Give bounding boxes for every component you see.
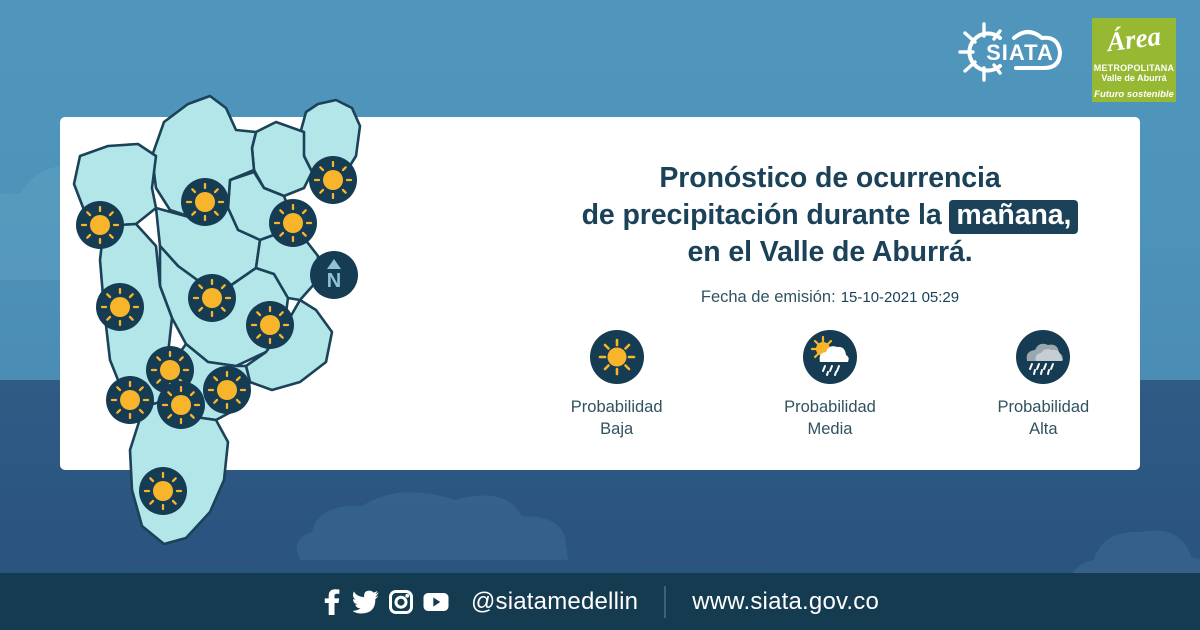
map-marker-sun[interactable] xyxy=(76,201,124,249)
footer-bar: @siatamedellin www.siata.gov.co xyxy=(0,573,1200,630)
ama-line2: Valle de Aburrá xyxy=(1101,73,1166,83)
map-markers-layer: N xyxy=(60,60,410,580)
legend-label-alta: Probabilidad Alta xyxy=(953,396,1133,441)
map-marker-sun[interactable] xyxy=(246,301,294,349)
logo-group: SIATA Área METROPOLITANA Valle de Aburrá… xyxy=(954,18,1176,102)
emission-date-value: 15-10-2021 05:29 xyxy=(841,289,959,306)
sun-cloud-rain-icon xyxy=(803,330,857,384)
emission-date: Fecha de emisión:15-10-2021 05:29 xyxy=(510,288,1150,307)
infographic-stage: SIATA Área METROPOLITANA Valle de Aburrá… xyxy=(0,0,1200,630)
ama-script-text: Área xyxy=(1106,23,1163,56)
social-icons xyxy=(321,589,449,615)
forecast-text-block: Pronóstico de ocurrencia de precipitació… xyxy=(510,160,1150,307)
facebook-icon[interactable] xyxy=(321,589,343,615)
title-line-2: de precipitación durante la mañana, xyxy=(510,197,1150,234)
twitter-icon[interactable] xyxy=(353,590,379,614)
ama-tagline: Futuro sostenible xyxy=(1092,89,1176,100)
instagram-icon[interactable] xyxy=(389,590,413,614)
probability-legend: Probabilidad Baja xyxy=(510,330,1150,441)
compass-rose: N xyxy=(310,251,358,299)
map-marker-sun[interactable] xyxy=(309,156,357,204)
map-valle-de-aburra: N xyxy=(60,60,410,580)
ama-line1: METROPOLITANA xyxy=(1094,63,1174,73)
legend-label-media: Probabilidad Media xyxy=(740,396,920,441)
map-marker-sun[interactable] xyxy=(269,199,317,247)
legend-label-line2: Baja xyxy=(527,418,707,440)
title-highlight-manana: mañana, xyxy=(949,200,1078,234)
title-line-1: Pronóstico de ocurrencia xyxy=(510,160,1150,197)
siata-logo-text: SIATA xyxy=(984,40,1056,66)
legend-item-baja: Probabilidad Baja xyxy=(527,330,707,441)
map-marker-sun[interactable] xyxy=(96,283,144,331)
legend-item-alta: Probabilidad Alta xyxy=(953,330,1133,441)
legend-label-line1: Probabilidad xyxy=(740,396,920,418)
compass-label: N xyxy=(327,270,341,292)
cloud-rain-icon xyxy=(1016,330,1070,384)
legend-label-line2: Alta xyxy=(953,418,1133,440)
footer-divider xyxy=(664,586,666,618)
map-marker-sun[interactable] xyxy=(139,467,187,515)
page-title: Pronóstico de ocurrencia de precipitació… xyxy=(510,160,1150,271)
sun-icon xyxy=(590,330,644,384)
map-marker-sun[interactable] xyxy=(106,376,154,424)
map-marker-sun[interactable] xyxy=(181,178,229,226)
website-url[interactable]: www.siata.gov.co xyxy=(692,588,879,616)
title-line-2-prefix: de precipitación durante la xyxy=(582,199,950,231)
area-metropolitana-logo: Área METROPOLITANA Valle de Aburrá Futur… xyxy=(1092,18,1176,102)
legend-label-line1: Probabilidad xyxy=(527,396,707,418)
legend-label-baja: Probabilidad Baja xyxy=(527,396,707,441)
map-marker-sun[interactable] xyxy=(157,381,205,429)
youtube-icon[interactable] xyxy=(423,592,449,612)
map-marker-sun[interactable] xyxy=(203,366,251,414)
map-marker-sun[interactable] xyxy=(188,274,236,322)
social-handle[interactable]: @siatamedellin xyxy=(471,588,638,616)
title-line-3: en el Valle de Aburrá. xyxy=(510,234,1150,271)
legend-label-line1: Probabilidad xyxy=(953,396,1133,418)
legend-item-media: Probabilidad Media xyxy=(740,330,920,441)
legend-label-line2: Media xyxy=(740,418,920,440)
siata-logo: SIATA xyxy=(954,18,1076,90)
emission-date-label: Fecha de emisión: xyxy=(701,288,836,306)
